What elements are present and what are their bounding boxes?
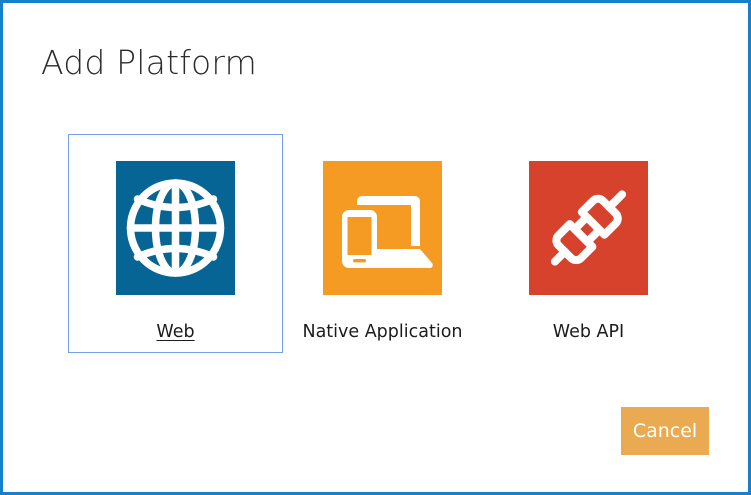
add-platform-dialog: Add Platform Web <box>0 0 751 495</box>
page-title: Add Platform <box>41 45 257 81</box>
plug-socket-icon <box>505 148 672 308</box>
platform-label-web-api: Web API <box>553 324 624 342</box>
platform-label-native-application: Native Application <box>302 324 462 342</box>
platform-label-web: Web <box>156 324 194 342</box>
globe-icon <box>92 148 259 308</box>
cancel-button[interactable]: Cancel <box>621 407 709 455</box>
phone-laptop-icon <box>299 148 466 308</box>
platform-options-row: Web Native Application <box>3 134 751 364</box>
platform-option-native-application[interactable]: Native Application <box>275 134 490 353</box>
platform-option-web-api[interactable]: Web API <box>481 134 696 353</box>
platform-option-web[interactable]: Web <box>68 134 283 353</box>
